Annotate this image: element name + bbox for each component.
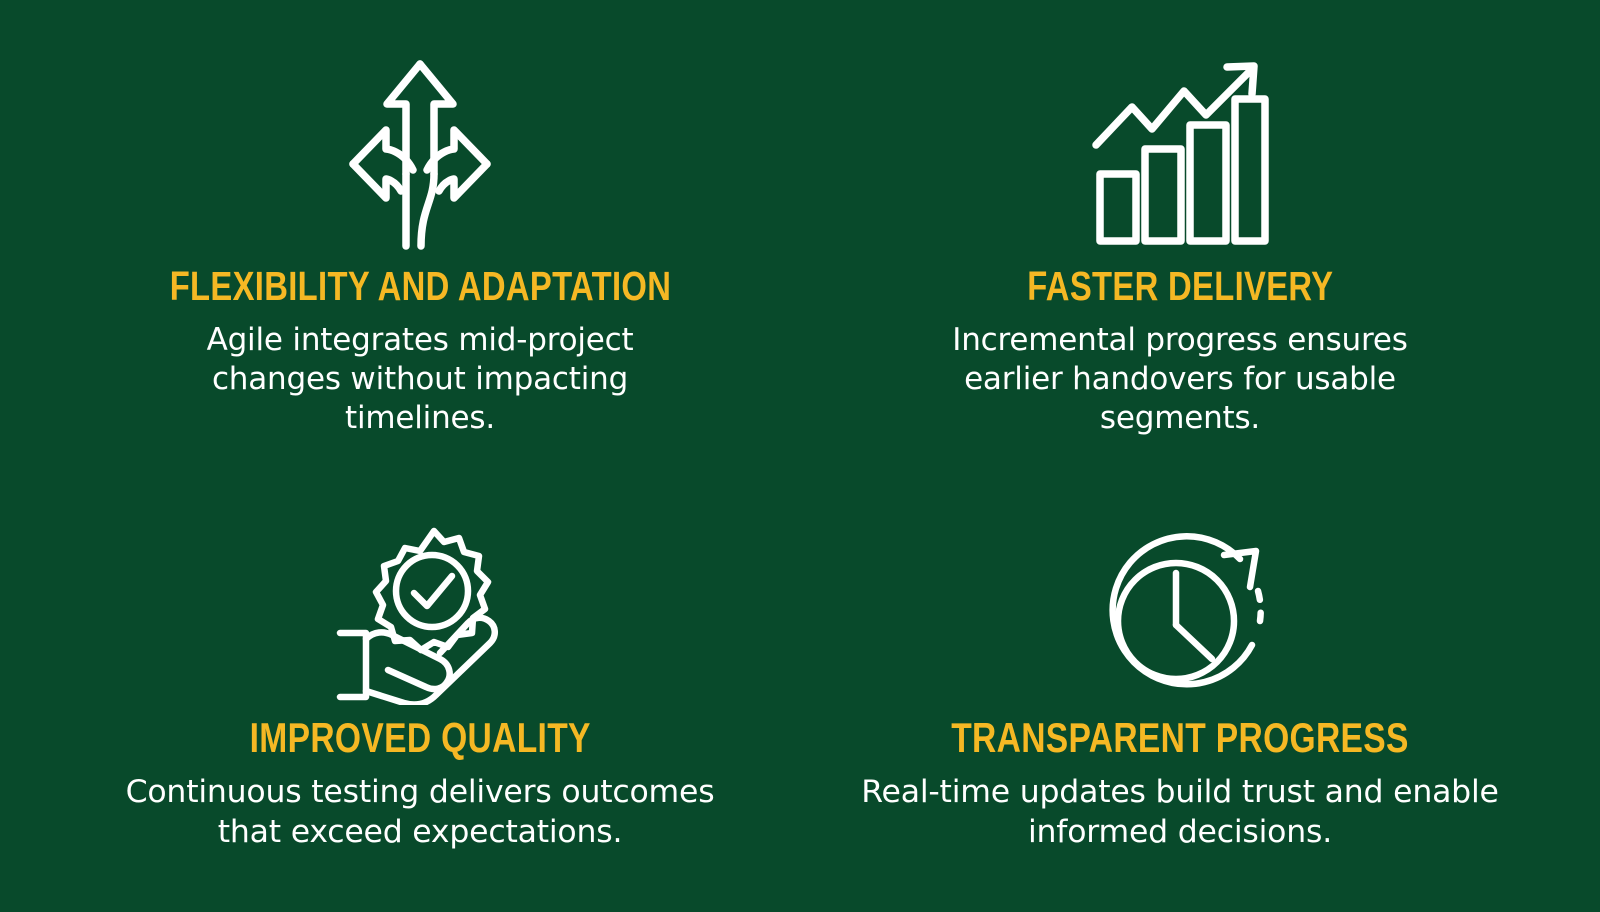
card-title: FLEXIBILITY AND ADAPTATION	[169, 266, 671, 307]
benefit-card-transparent-progress: TRANSPARENT PROGRESS Real-time updates b…	[800, 512, 1560, 912]
hand-holding-quality-badge-icon	[330, 522, 510, 707]
clock-refresh-icon	[1088, 522, 1273, 707]
card-body: Real-time updates build trust and enable…	[850, 773, 1510, 852]
card-title: TRANSPARENT PROGRESS	[951, 717, 1409, 759]
benefit-card-flexibility: FLEXIBILITY AND ADAPTATION Agile integra…	[40, 52, 800, 512]
card-body: Agile integrates mid-project changes wit…	[140, 321, 700, 438]
card-title: IMPROVED QUALITY	[249, 717, 590, 759]
growth-bar-chart-icon	[1088, 52, 1273, 252]
benefit-card-faster-delivery: FASTER DELIVERY Incremental progress ens…	[800, 52, 1560, 512]
card-title: FASTER DELIVERY	[1027, 266, 1333, 307]
three-way-arrow-icon	[325, 52, 515, 252]
card-body: Continuous testing delivers outcomes tha…	[90, 773, 750, 852]
card-body: Incremental progress ensures earlier han…	[900, 321, 1460, 438]
benefits-infographic: FLEXIBILITY AND ADAPTATION Agile integra…	[0, 0, 1600, 900]
benefits-grid: FLEXIBILITY AND ADAPTATION Agile integra…	[0, 0, 1600, 900]
benefit-card-improved-quality: IMPROVED QUALITY Continuous testing deli…	[40, 512, 800, 912]
